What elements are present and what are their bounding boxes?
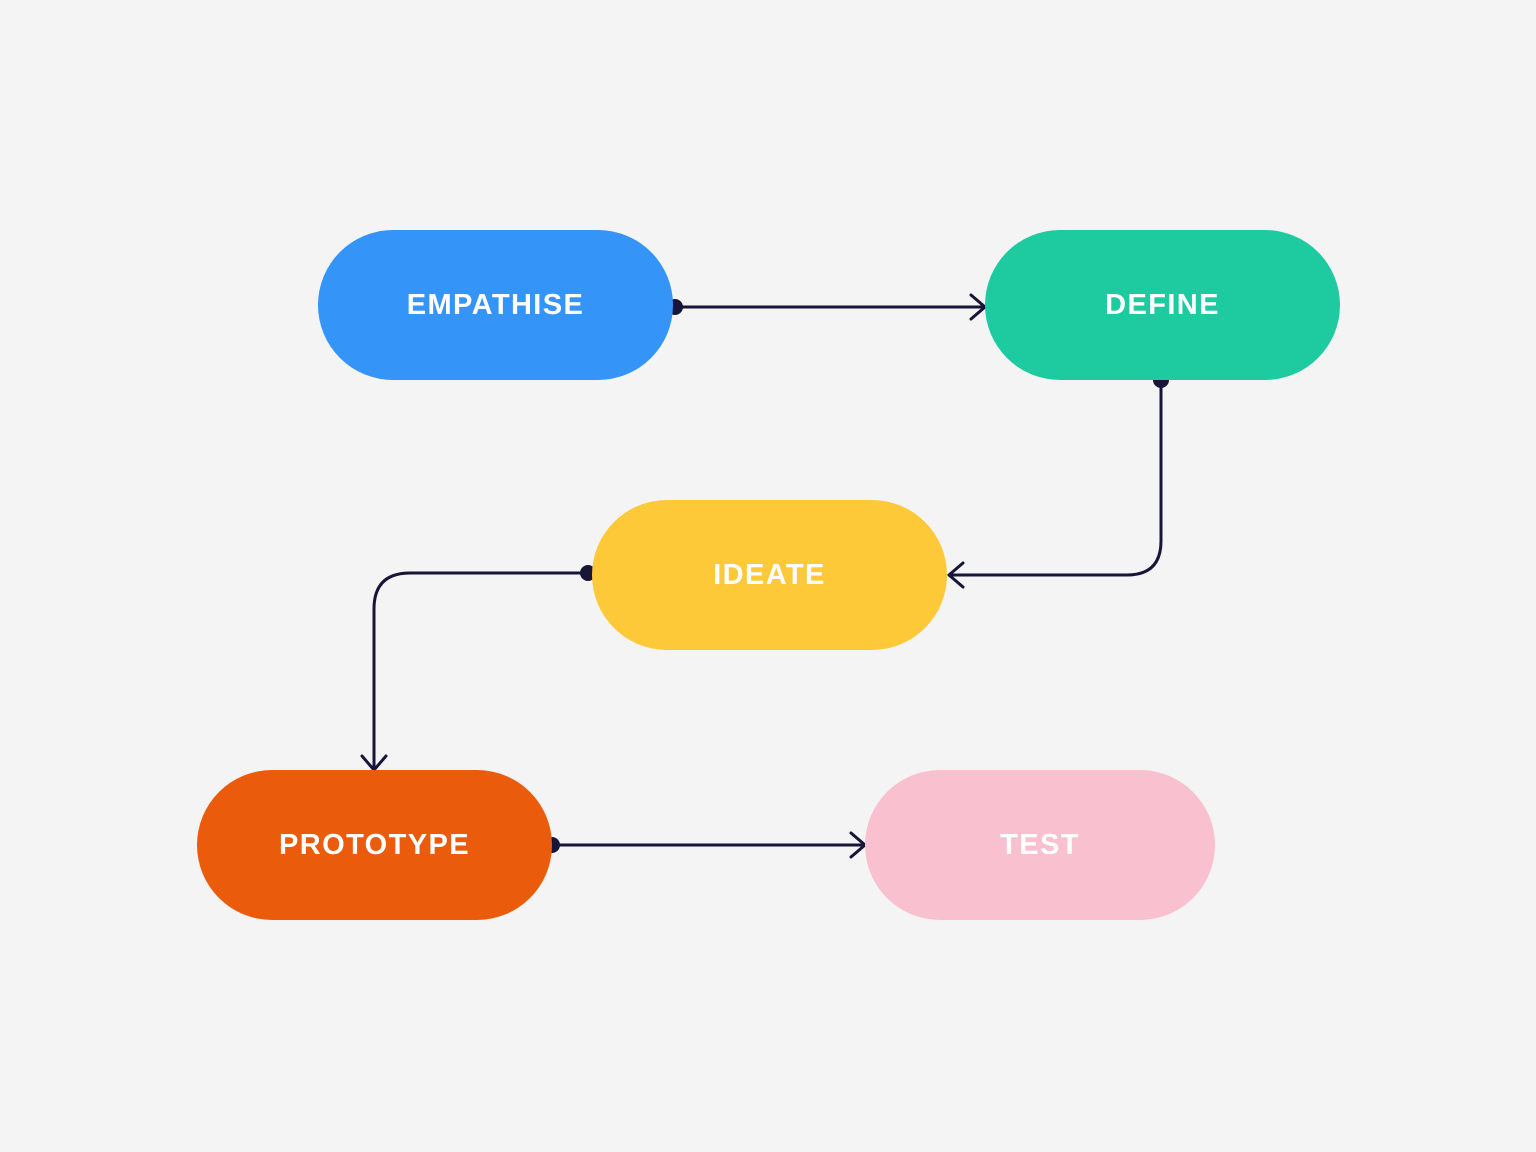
diagram-canvas: EMPATHISE DEFINE IDEATE PROTOTYPE TEST: [0, 0, 1536, 1152]
edge-empathise-to-define[interactable]: [667, 295, 985, 319]
node-empathise-label: EMPATHISE: [407, 291, 584, 320]
node-prototype[interactable]: PROTOTYPE: [197, 770, 552, 920]
node-test[interactable]: TEST: [865, 770, 1215, 920]
node-ideate-label: IDEATE: [713, 561, 826, 590]
node-test-label: TEST: [1000, 831, 1080, 860]
node-define[interactable]: DEFINE: [985, 230, 1340, 380]
edge-prototype-to-test[interactable]: [544, 833, 865, 857]
edge-define-to-ideate[interactable]: [949, 372, 1169, 587]
node-define-label: DEFINE: [1105, 291, 1220, 320]
edge-ideate-to-prototype[interactable]: [362, 565, 596, 770]
node-prototype-label: PROTOTYPE: [279, 831, 470, 860]
edge-line-ideate-to-prototype: [374, 573, 588, 770]
node-empathise[interactable]: EMPATHISE: [318, 230, 673, 380]
node-ideate[interactable]: IDEATE: [592, 500, 947, 650]
edge-line-define-to-ideate: [949, 380, 1161, 575]
